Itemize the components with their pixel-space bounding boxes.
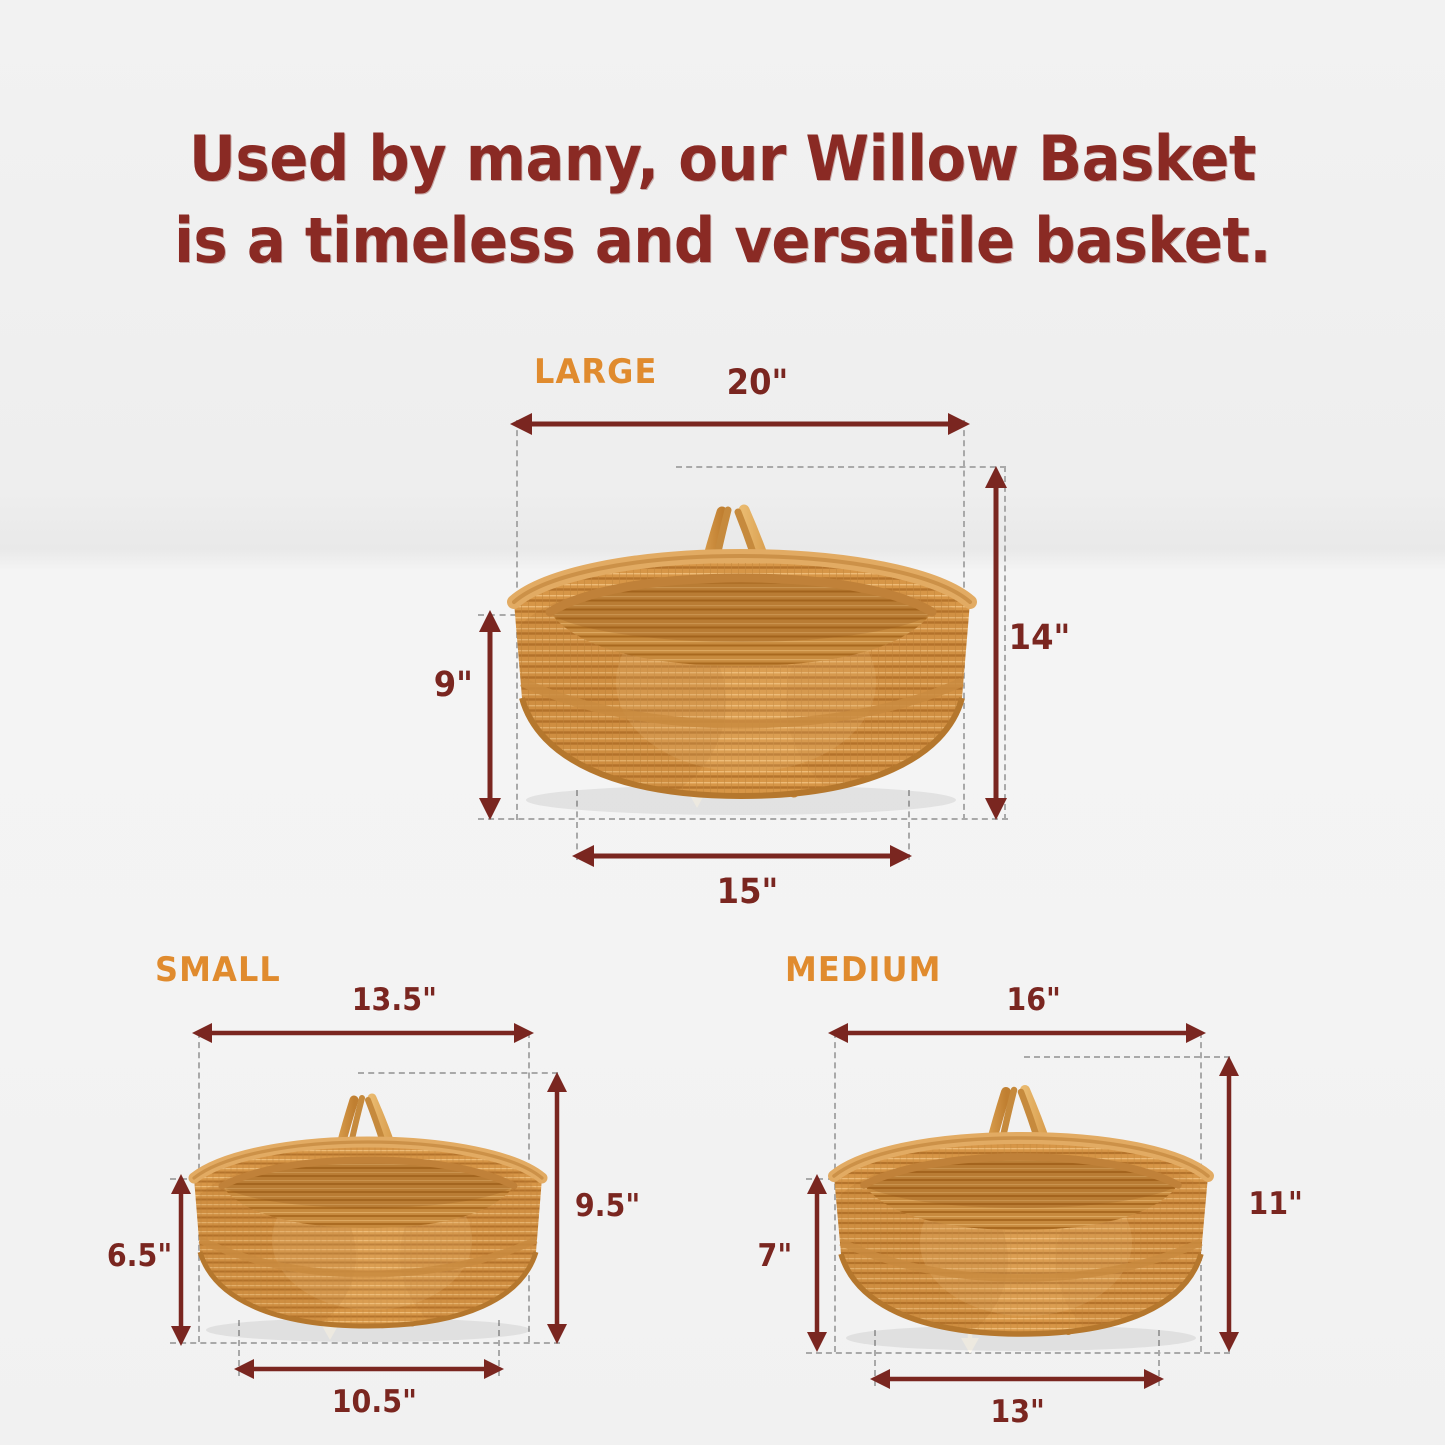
- dim-large-basket-height: 9": [434, 665, 473, 705]
- basket-image-small: [168, 1060, 568, 1350]
- arrow-small-base-width: [234, 1358, 504, 1380]
- dim-medium-basket-height: 7": [758, 1238, 793, 1274]
- infographic-canvas: Used by many, our Willow Basket is a tim…: [0, 0, 1445, 1445]
- basket-image-medium: [806, 1048, 1236, 1358]
- headline-line-2: is a timeless and versatile basket.: [51, 200, 1395, 282]
- dim-medium-overall-height: 11": [1248, 1186, 1303, 1222]
- dim-small-overall-height: 9.5": [575, 1188, 640, 1224]
- size-label-medium: MEDIUM: [785, 950, 942, 990]
- size-label-small: SMALL: [155, 950, 281, 990]
- dim-small-base-width: 10.5": [332, 1384, 417, 1420]
- headline-line-1: Used by many, our Willow Basket: [51, 118, 1395, 200]
- dim-large-overall-height: 14": [1009, 618, 1071, 658]
- dim-medium-base-width: 13": [990, 1394, 1045, 1430]
- basket-image-large: [476, 452, 1006, 822]
- dim-medium-top-width: 16": [1006, 982, 1061, 1018]
- arrow-large-top-width: [510, 412, 970, 436]
- dim-small-basket-height: 6.5": [107, 1238, 172, 1274]
- page-title: Used by many, our Willow Basket is a tim…: [51, 118, 1395, 283]
- dim-small-top-width: 13.5": [352, 982, 437, 1018]
- size-label-large: LARGE: [534, 352, 657, 392]
- dim-large-base-width: 15": [717, 872, 779, 912]
- dim-large-top-width: 20": [727, 363, 789, 403]
- arrow-medium-top-width: [828, 1022, 1206, 1044]
- arrow-medium-base-width: [870, 1368, 1164, 1390]
- arrow-small-top-width: [192, 1022, 534, 1044]
- arrow-large-base-width: [572, 844, 912, 868]
